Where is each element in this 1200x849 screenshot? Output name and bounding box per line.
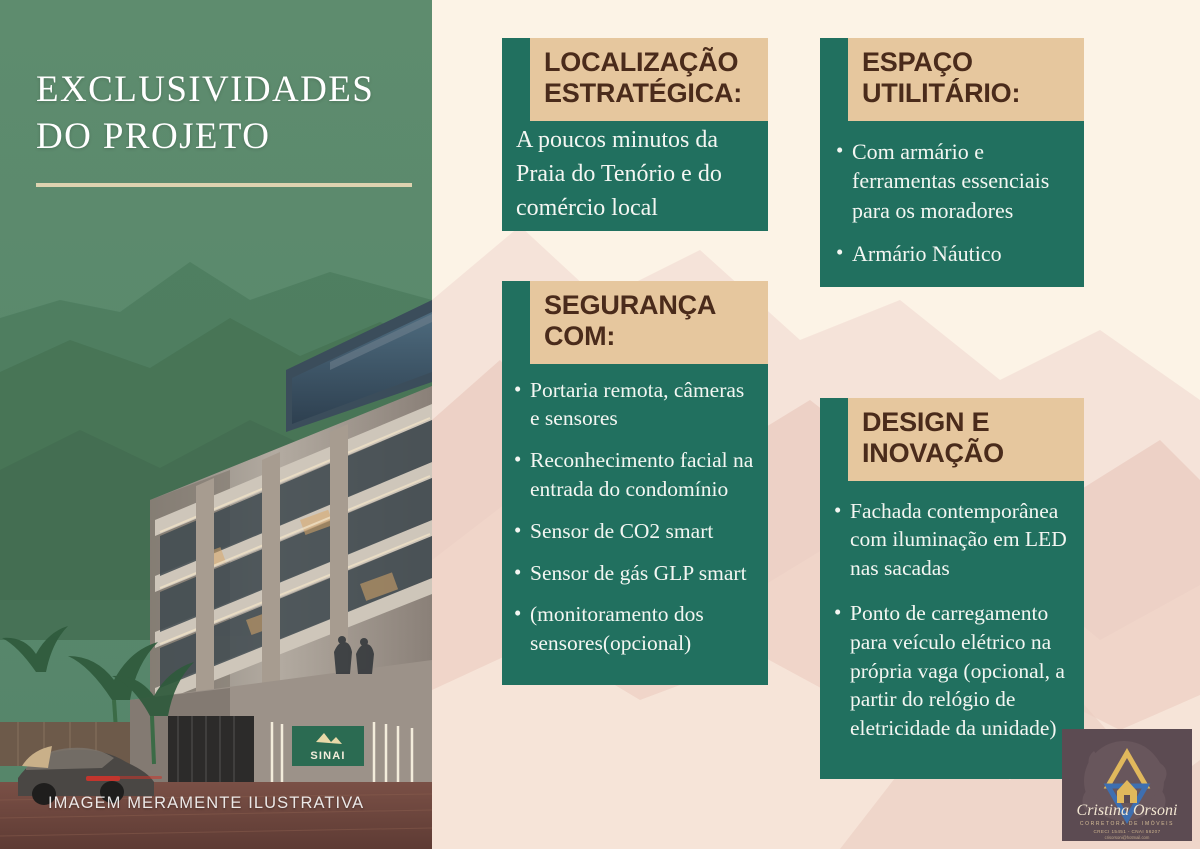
illustrative-image-disclaimer: IMAGEM MERAMENTE ILUSTRATIVA xyxy=(48,794,364,813)
title-underline-rule xyxy=(36,183,412,187)
page-title-line-1: EXCLUSIVIDADES xyxy=(36,66,406,113)
project-render-panel: SINAI xyxy=(0,0,432,849)
card-body: Fachada contemporânea com iluminação em … xyxy=(820,481,1084,779)
logo-signature: Cristina Orsoni xyxy=(1077,802,1178,819)
list-item: Fachada contemporânea com iluminação em … xyxy=(834,497,1070,583)
card-design-e-inovacao: DESIGN E INOVAÇÃO Fachada contemporânea … xyxy=(820,398,1084,779)
card-title-line-2: UTILITÁRIO: xyxy=(862,78,1070,109)
card-bullet-list: Fachada contemporânea com iluminação em … xyxy=(834,497,1070,743)
card-header: DESIGN E INOVAÇÃO xyxy=(820,398,1084,481)
card-header-band: DESIGN E INOVAÇÃO xyxy=(848,398,1084,481)
card-bullet-list: Portaria remota, câmeras e sensores Reco… xyxy=(514,376,754,658)
card-title-line-2: ESTRATÉGICA: xyxy=(544,78,754,109)
card-localizacao-estrategica: LOCALIZAÇÃO ESTRATÉGICA: A poucos minuto… xyxy=(502,38,768,231)
slide-exclusividades-do-projeto: SINAI xyxy=(0,0,1200,849)
list-item: Com armário e ferramentas essenciais par… xyxy=(836,137,1070,225)
card-accent-strip xyxy=(820,38,848,121)
list-item: Sensor de gás GLP smart xyxy=(514,559,754,588)
card-title-line-1: SEGURANÇA xyxy=(544,290,754,321)
card-body: Com armário e ferramentas essenciais par… xyxy=(820,121,1084,287)
card-accent-strip xyxy=(820,398,848,481)
logo-role: CORRETORA DE IMÓVEIS xyxy=(1080,820,1174,827)
card-bullet-list: Com armário e ferramentas essenciais par… xyxy=(836,137,1070,269)
list-item: Armário Náutico xyxy=(836,239,1070,268)
logo-email: crisorsoni@hotmail.com xyxy=(1105,835,1150,840)
card-header: SEGURANÇA COM: xyxy=(502,281,768,364)
card-header: LOCALIZAÇÃO ESTRATÉGICA: xyxy=(502,38,768,121)
logo-registration: CRECI 15451 - CNAI 56207 xyxy=(1093,829,1160,834)
card-body: Portaria remota, câmeras e sensores Reco… xyxy=(502,364,768,685)
card-note: (monitoramento dos sensores(opcional) xyxy=(514,600,754,658)
card-title: SEGURANÇA COM: xyxy=(544,290,754,353)
card-accent-strip xyxy=(502,281,530,364)
list-item: Ponto de carregamento para veículo elétr… xyxy=(834,599,1070,743)
list-item: Sensor de CO2 smart xyxy=(514,517,754,546)
card-seguranca-com: SEGURANÇA COM: Portaria remota, câmeras … xyxy=(502,281,768,685)
logo-svg: Cristina Orsoni CORRETORA DE IMÓVEIS CRE… xyxy=(1062,729,1192,841)
card-title-line-2: INOVAÇÃO xyxy=(862,438,1070,469)
card-title-line-2: COM: xyxy=(544,321,754,352)
card-header: ESPAÇO UTILITÁRIO: xyxy=(820,38,1084,121)
page-title-line-2: DO PROJETO xyxy=(36,113,406,160)
card-espaco-utilitario: ESPAÇO UTILITÁRIO: Com armário e ferrame… xyxy=(820,38,1084,287)
card-title-line-1: ESPAÇO xyxy=(862,47,1070,78)
card-accent-strip xyxy=(502,38,530,121)
card-title: DESIGN E INOVAÇÃO xyxy=(862,407,1070,470)
card-header-band: ESPAÇO UTILITÁRIO: xyxy=(848,38,1084,121)
card-header-band: SEGURANÇA COM: xyxy=(530,281,768,364)
card-title-line-1: LOCALIZAÇÃO xyxy=(544,47,754,78)
sinai-sign-plaque: SINAI xyxy=(292,726,364,766)
svg-text:SINAI: SINAI xyxy=(310,750,345,762)
card-title: LOCALIZAÇÃO ESTRATÉGICA: xyxy=(544,47,754,110)
card-header-band: LOCALIZAÇÃO ESTRATÉGICA: xyxy=(530,38,768,121)
card-title-line-1: DESIGN E xyxy=(862,407,1070,438)
card-title: ESPAÇO UTILITÁRIO: xyxy=(862,47,1070,110)
card-lead-text: A poucos minutos da Praia do Tenório e d… xyxy=(502,121,768,231)
list-item: Reconhecimento facial na entrada do cond… xyxy=(514,446,754,504)
broker-logo-watermark: Cristina Orsoni CORRETORA DE IMÓVEIS CRE… xyxy=(1062,729,1192,841)
page-title: EXCLUSIVIDADES DO PROJETO xyxy=(36,66,406,161)
list-item: Portaria remota, câmeras e sensores xyxy=(514,376,754,434)
